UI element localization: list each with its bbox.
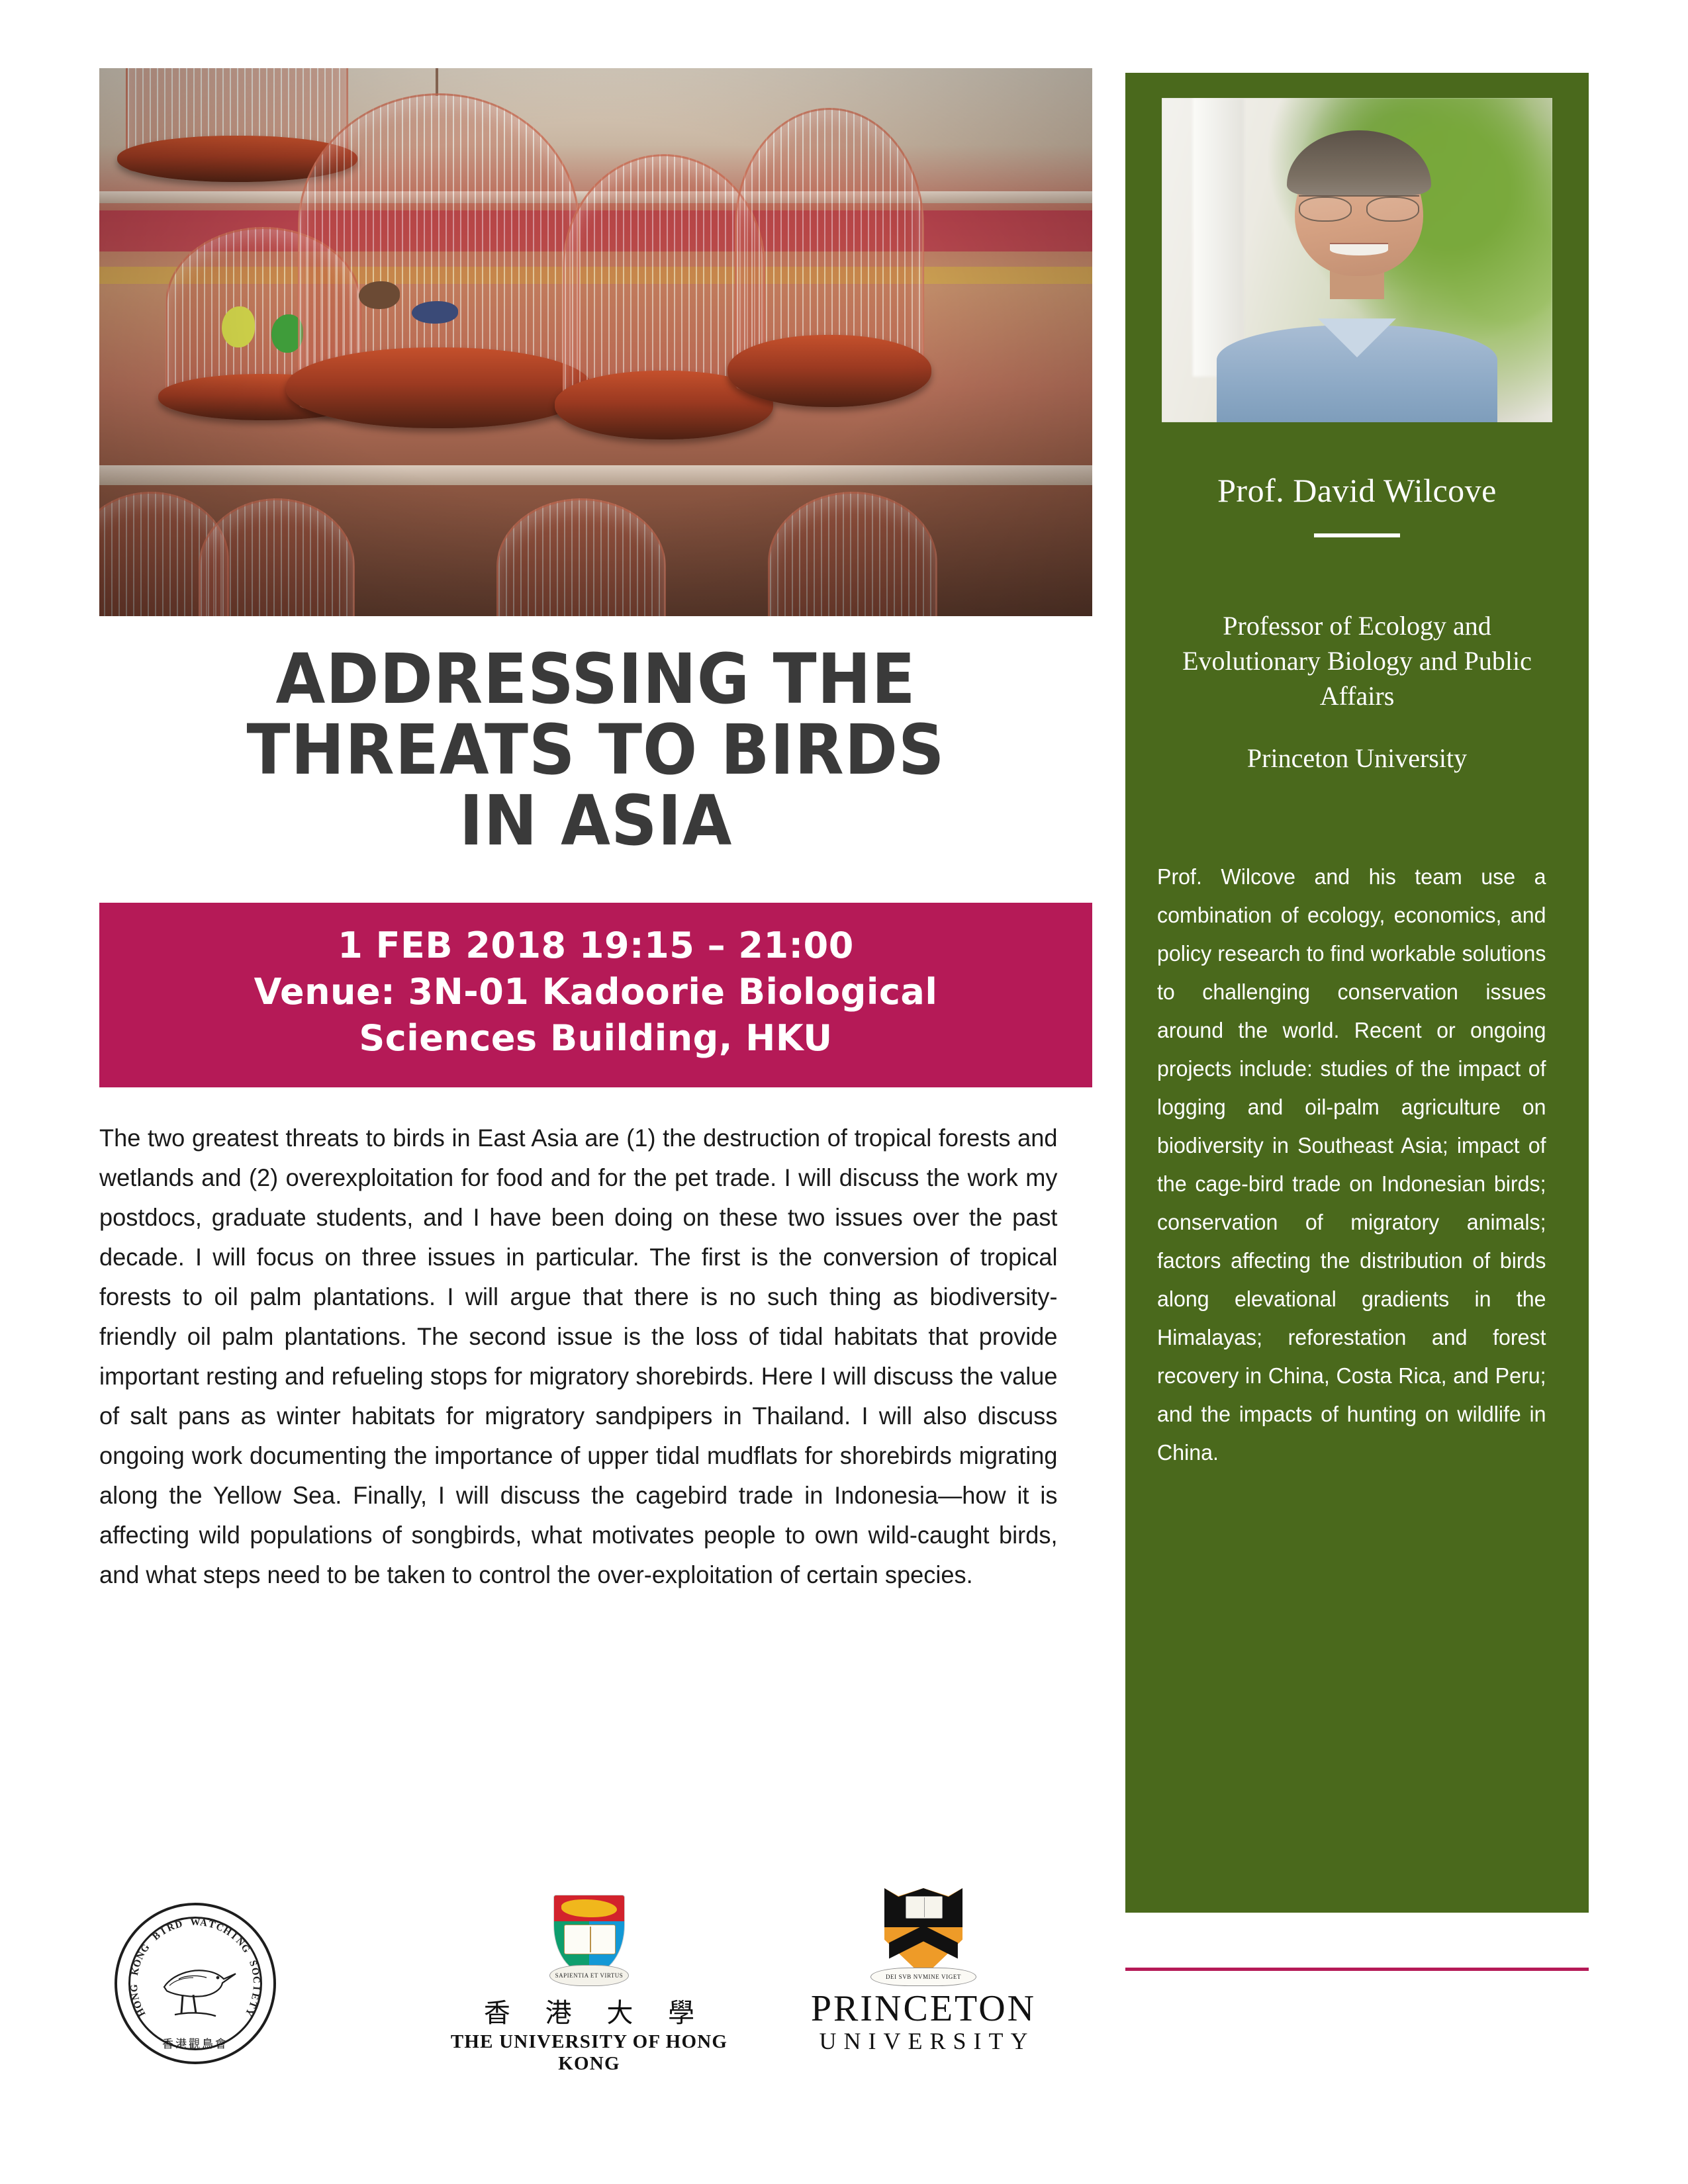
hku-logo: SAPIENTIA ET VIRTUS 香 港 大 學 THE UNIVERSI…	[417, 1895, 761, 2075]
princeton-shield-icon: DEI SVB NVMINE VIGET	[884, 1888, 962, 1986]
princeton-motto-scroll: DEI SVB NVMINE VIGET	[870, 1968, 976, 1986]
princeton-open-book-icon	[906, 1896, 943, 1919]
portrait-smile	[1330, 244, 1389, 256]
princeton-wordmark-sub: UNIVERSITY	[768, 2027, 1079, 2056]
sponsor-logos: HONG KONG BIRD WATCHING SOCIETY 香港觀鳥會 SA…	[99, 1883, 1105, 2101]
hku-english-name: THE UNIVERSITY OF HONG KONG	[417, 2031, 761, 2075]
glasses-right-lens	[1366, 197, 1420, 222]
event-datetime: 1 FEB 2018 19:15 – 21:00	[122, 923, 1070, 969]
event-details-banner: 1 FEB 2018 19:15 – 21:00 Venue: 3N-01 Ka…	[99, 903, 1092, 1087]
hku-open-book-icon	[564, 1925, 616, 1955]
title-line-1: ADDRESSING THE	[134, 644, 1058, 715]
hku-crest-icon: SAPIENTIA ET VIRTUS	[553, 1895, 625, 1986]
hkbws-logo: HONG KONG BIRD WATCHING SOCIETY 香港觀鳥會	[113, 1903, 278, 2064]
hku-chinese-name: 香 港 大 學	[417, 1991, 761, 2030]
abstract-text: The two greatest threats to birds in Eas…	[99, 1118, 1058, 1594]
title-line-3: IN ASIA	[134, 786, 1058, 856]
speaker-affiliation: Professor of Ecology and Evolutionary Bi…	[1162, 609, 1552, 713]
speaker-bio: Prof. Wilcove and his team use a combina…	[1157, 858, 1546, 1472]
bird-market-photo	[99, 68, 1092, 616]
hku-shield	[553, 1895, 625, 1974]
event-venue-line-2: Sciences Building, HKU	[122, 1015, 1070, 1062]
speaker-divider	[1314, 533, 1400, 537]
princeton-wordmark: PRINCETON	[768, 1990, 1079, 2027]
speaker-name: Prof. David Wilcove	[1125, 471, 1589, 510]
photo-vignette	[99, 68, 1092, 616]
portrait-glasses-icon	[1299, 195, 1420, 219]
left-column: ADDRESSING THE THREATS TO BIRDS IN ASIA …	[99, 68, 1092, 1619]
title-line-2: THREATS TO BIRDS	[134, 715, 1058, 786]
speaker-institution: Princeton University	[1162, 743, 1552, 774]
panel-bottom-rule	[1125, 1968, 1589, 1971]
hku-motto-scroll: SAPIENTIA ET VIRTUS	[549, 1965, 630, 1986]
hkbws-chinese-name: 香港觀鳥會	[117, 2034, 273, 2051]
hkbws-seal: HONG KONG BIRD WATCHING SOCIETY 香港觀鳥會	[115, 1903, 276, 2064]
wading-bird-icon	[152, 1948, 238, 2021]
speaker-portrait	[1162, 98, 1552, 422]
glasses-left-lens	[1299, 197, 1352, 222]
princeton-logo: DEI SVB NVMINE VIGET PRINCETON UNIVERSIT…	[768, 1888, 1079, 2056]
page-title: ADDRESSING THE THREATS TO BIRDS IN ASIA	[134, 644, 1058, 856]
portrait-window	[1193, 98, 1244, 377]
event-venue-line-1: Venue: 3N-01 Kadoorie Biological	[122, 969, 1070, 1015]
speaker-panel: Prof. David Wilcove Professor of Ecology…	[1125, 73, 1589, 1913]
